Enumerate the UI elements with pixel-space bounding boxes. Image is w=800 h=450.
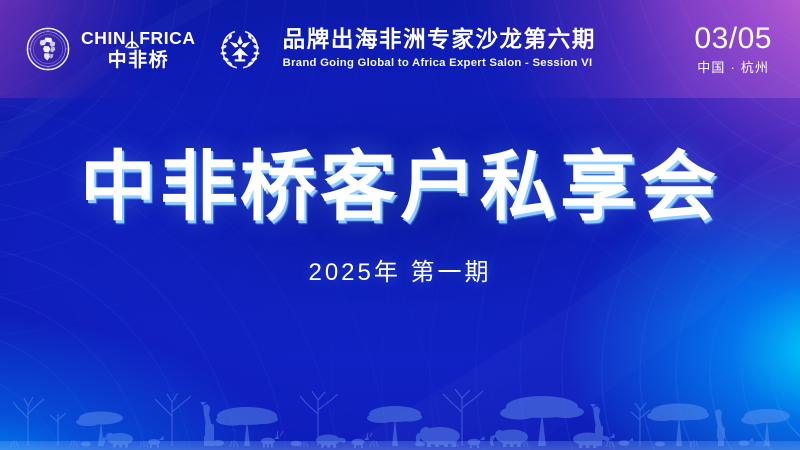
ground-line — [0, 441, 800, 450]
wordmark-en-part1: CHIN — [81, 30, 126, 48]
header-title-cn: 品牌出海非洲专家沙龙第六期 — [283, 27, 596, 53]
page-title: 中非桥客户私享会 — [80, 148, 720, 228]
wreath-star-icon — [216, 25, 264, 73]
wordmark-en-part2: FRICA — [139, 30, 195, 48]
chinafrica-wordmark: CHIN FRICA 中非桥 — [81, 29, 196, 70]
header-band: CHIN FRICA 中非桥 — [0, 0, 800, 98]
event-date-block: 03/05 中国 · 杭州 — [694, 24, 778, 74]
event-city: 中国 · 杭州 — [697, 61, 769, 74]
header-title-en: Brand Going Global to Africa Expert Salo… — [283, 57, 596, 71]
wordmark-cn: 中非桥 — [108, 51, 170, 70]
bridge-icon — [124, 30, 140, 49]
event-poster: CHIN FRICA 中非桥 — [0, 0, 800, 450]
main-title-block: 中非桥客户私享会 2025年 第一期 — [0, 148, 800, 287]
page-subtitle: 2025年 第一期 — [0, 252, 800, 287]
header-titles: 品牌出海非洲专家沙龙第六期 Brand Going Global to Afri… — [283, 27, 596, 71]
african-savanna-silhouette — [0, 358, 800, 450]
china-africa-roundel-icon — [26, 27, 70, 71]
event-date: 03/05 — [694, 24, 772, 54]
